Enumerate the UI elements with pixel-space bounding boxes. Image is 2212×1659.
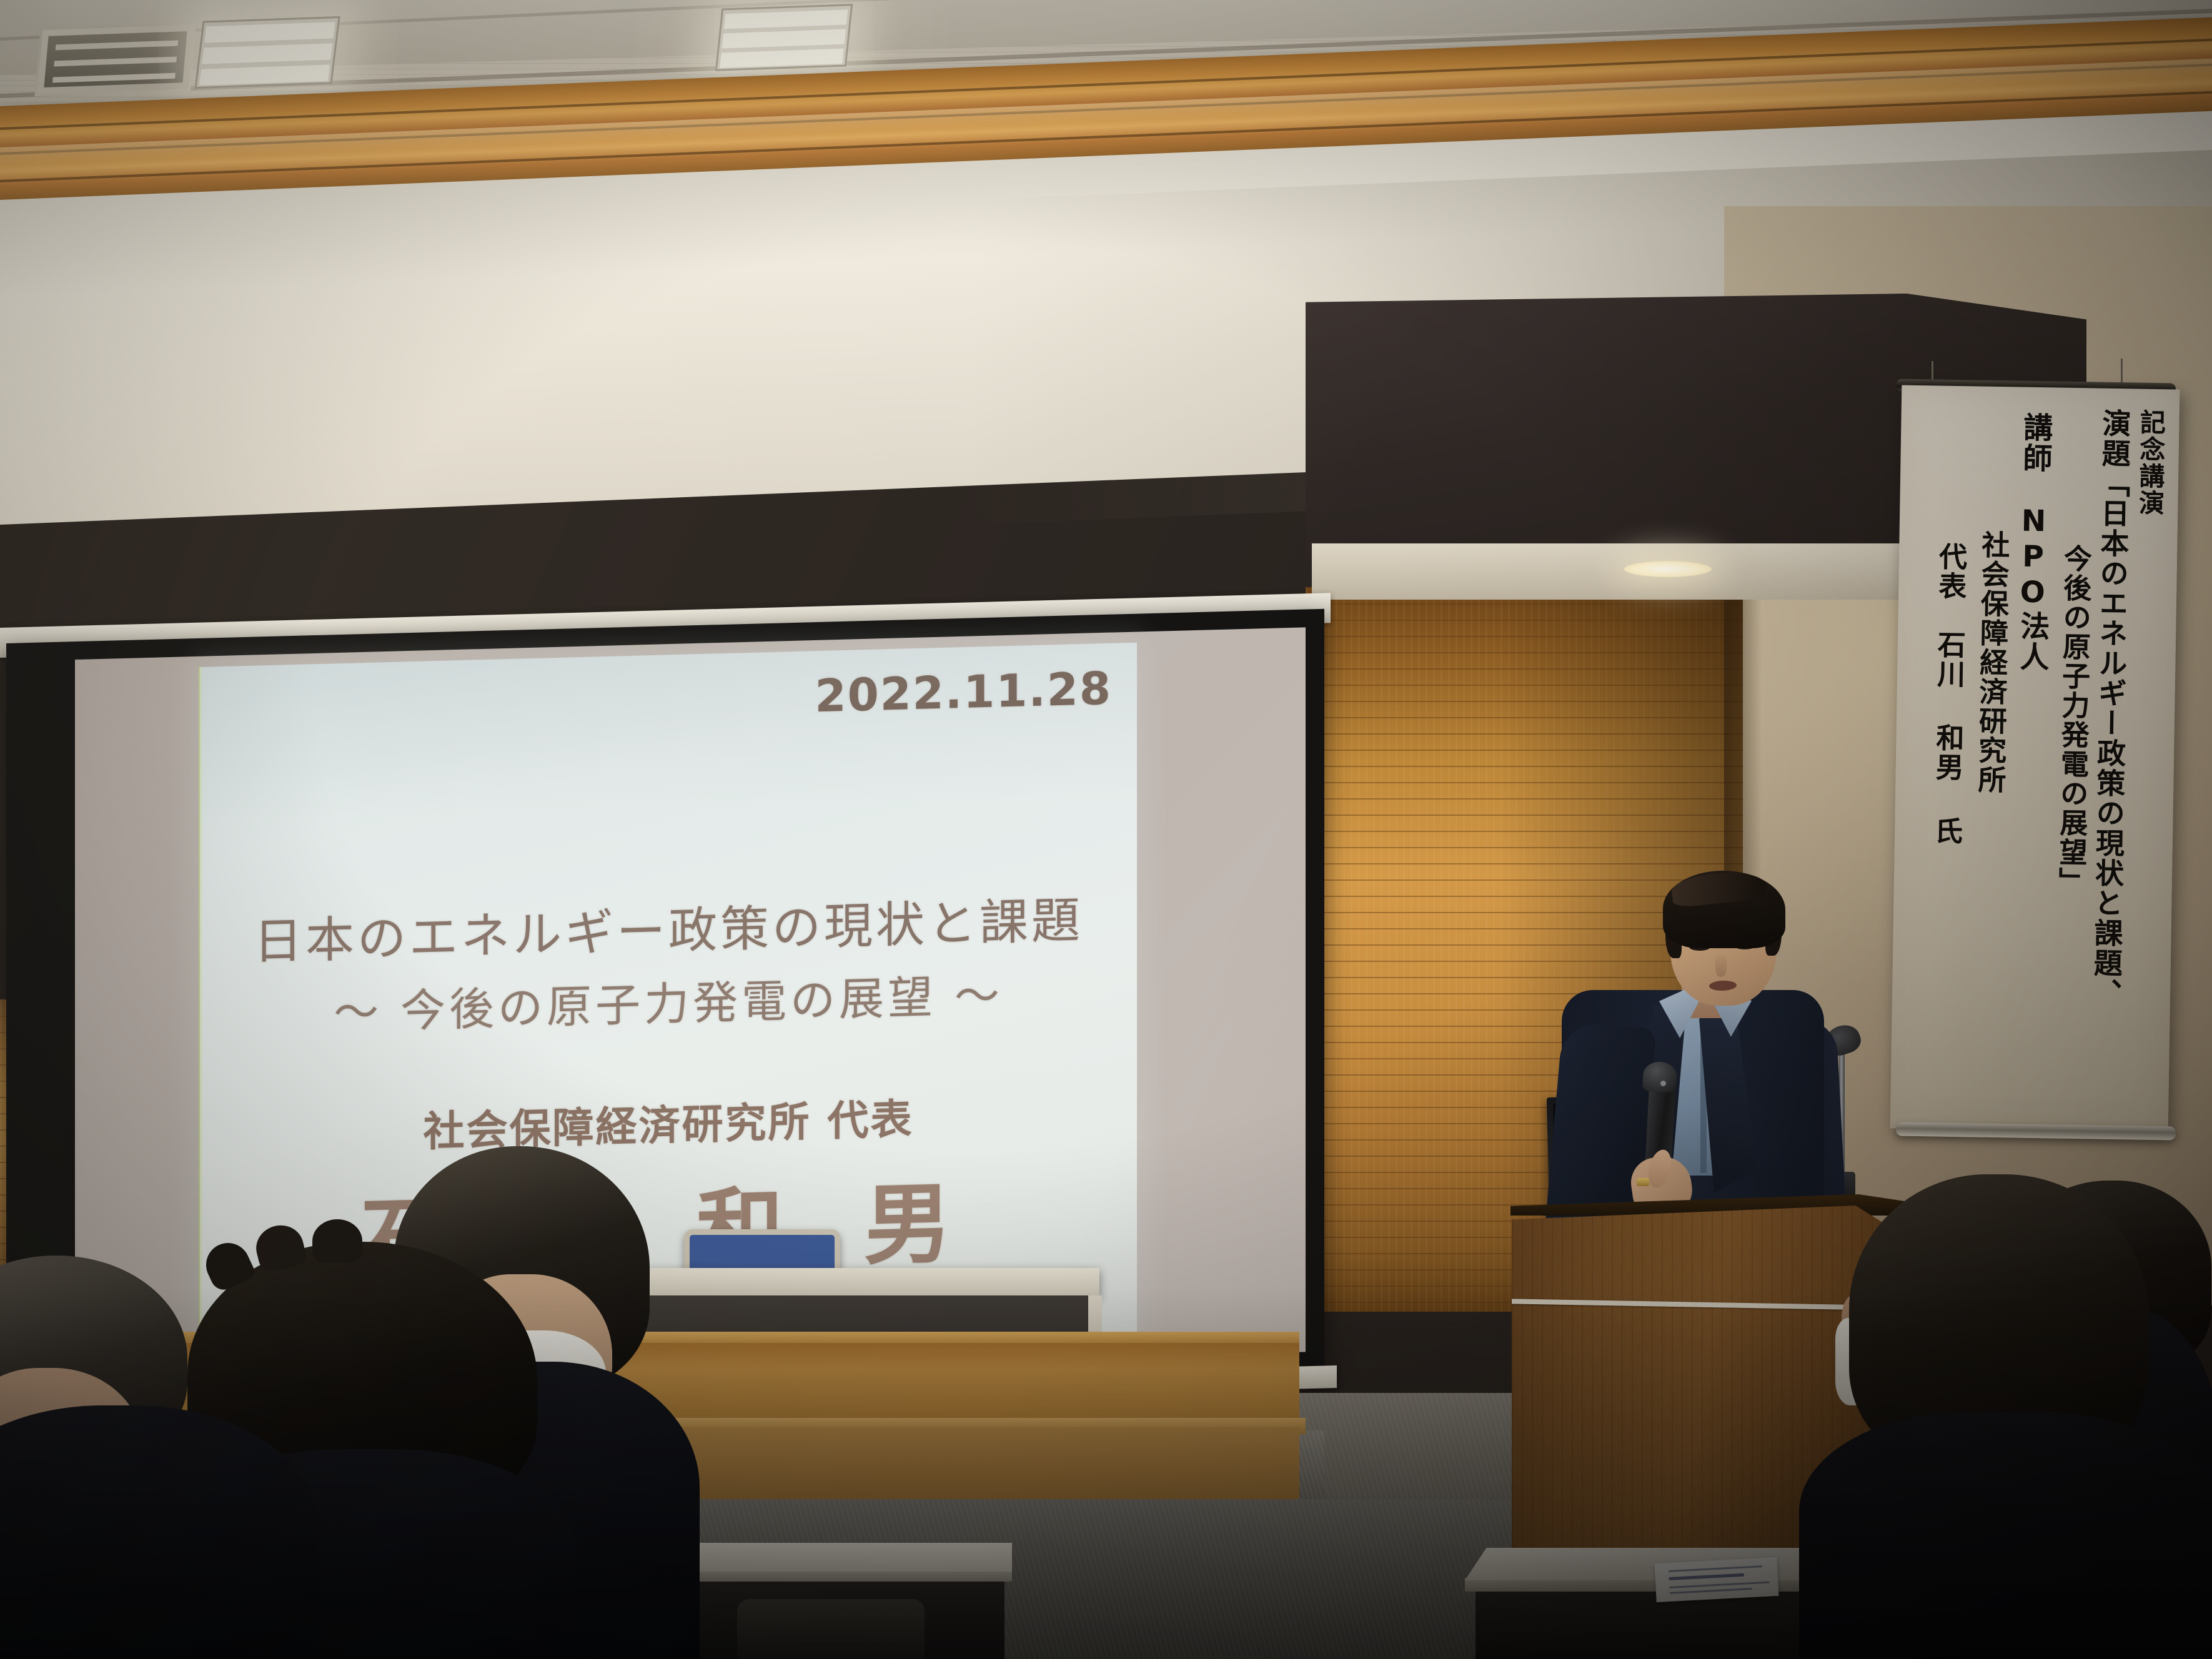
ceiling-light-icon [194, 16, 340, 89]
air-vent-inner [44, 31, 187, 87]
paper-text-line [1669, 1582, 1769, 1588]
recessed-downlight-icon [1624, 561, 1712, 577]
lecture-hall-photo: 2022.11.28 日本のエネルギー政策の現状と課題 ～ 今後の原子力発電の展… [0, 0, 2212, 1659]
audience-hair-tuft [312, 1219, 362, 1263]
microphone-indicator [1660, 1081, 1666, 1086]
projection-screen-assembly: 2022.11.28 日本のエネルギー政策の現状と課題 ～ 今後の原子力発電の展… [0, 312, 1368, 1106]
handout-paper [1655, 1557, 1779, 1602]
banner-hanging-string [2121, 359, 2123, 384]
microphone-capsule [1642, 1061, 1677, 1093]
paper-text-line [1669, 1573, 1744, 1580]
speaker-nose [1715, 952, 1727, 977]
vent-blade [52, 73, 175, 83]
light-louvre [202, 43, 332, 64]
projection-edge-fringe [199, 667, 203, 1373]
paper-text-line [1669, 1565, 1762, 1572]
light-louvre [204, 22, 335, 42]
audience-shoulders [1799, 1412, 2212, 1659]
air-vent-icon [34, 22, 197, 96]
banner-text-layer: 記念講演 演題「日本のエネルギー政策の現状と課題、 今後の原子力発電の展望」 講… [1890, 385, 2180, 1133]
light-louvre [722, 29, 846, 49]
paper-text-line [1670, 1588, 1752, 1594]
vent-blade [56, 41, 178, 51]
ceiling-light-icon [715, 4, 853, 71]
light-louvre [724, 9, 848, 29]
light-louvre [720, 49, 844, 68]
light-louvre [199, 65, 330, 86]
speaker-ring [1637, 1178, 1649, 1186]
audience-chair [737, 1599, 925, 1659]
vent-blade [54, 57, 177, 67]
